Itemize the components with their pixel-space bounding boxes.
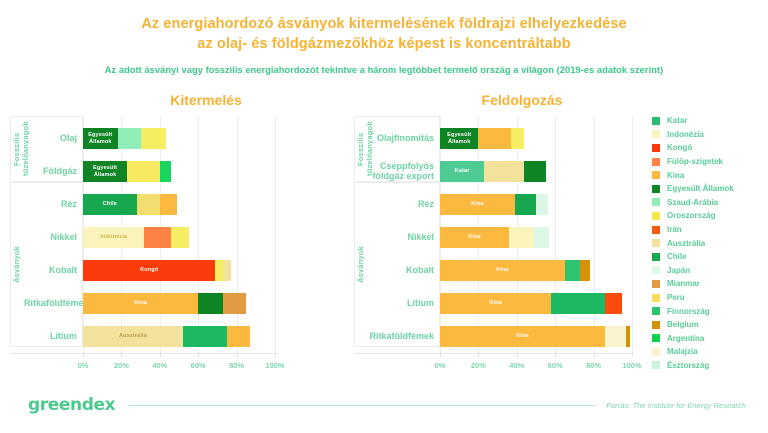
legend-item-label: Japán: [667, 266, 690, 275]
legend-item[interactable]: Japán: [652, 264, 768, 278]
legend-item-label: Kína: [667, 171, 684, 180]
bar-stack: Katar: [440, 161, 546, 182]
legend-item-label: Indonézia: [667, 130, 704, 139]
bar-segment[interactable]: EgyesültÁllamok: [440, 128, 478, 149]
legend-item-label: Malajzia: [667, 347, 698, 356]
bar-segment-label: Kína: [134, 300, 147, 306]
bar-stack: Kongó: [83, 260, 231, 281]
legend-swatch-icon: [652, 239, 660, 247]
x-axis-line: [10, 353, 275, 354]
chart-panel-feldolgozas: Feldolgozás Fosszilis tüzelőanyagokÁsván…: [352, 92, 652, 378]
gridline: [555, 116, 556, 353]
bar-segment[interactable]: [160, 161, 172, 182]
category-label: Cseppfolyós földgáz export: [368, 161, 434, 182]
category-label: Kobalt: [24, 265, 77, 276]
legend-item-label: Oroszország: [667, 211, 715, 220]
legend-item-label: Argentína: [667, 334, 704, 343]
legend-swatch-icon: [652, 294, 660, 302]
bar-segment-label: Kína: [516, 333, 529, 339]
legend-item-label: Mianmar: [667, 279, 700, 288]
legend-swatch-icon: [652, 198, 660, 206]
bar-segment[interactable]: Kína: [440, 260, 565, 281]
bar-segment[interactable]: [580, 260, 590, 281]
legend-swatch-icon: [652, 307, 660, 315]
legend: KatarIndonéziaKongóFülöp-szigetekKínaEgy…: [652, 114, 768, 372]
bar-segment-label: Katar: [455, 168, 470, 174]
axis-tick-label: 20%: [471, 361, 486, 370]
header: Az energiahordozó ásványok kitermeléséne…: [0, 0, 768, 75]
legend-item[interactable]: Belgium: [652, 318, 768, 332]
bar-segment-label: EgyesültÁllamok: [88, 132, 112, 145]
bar-segment[interactable]: [605, 293, 622, 314]
bar-segment[interactable]: [509, 227, 534, 248]
axis-tick-label: 0%: [78, 361, 89, 370]
legend-item-label: Chile: [667, 252, 687, 261]
category-label: Földgáz: [24, 166, 77, 177]
bar-segment[interactable]: EgyesültÁllamok: [83, 161, 127, 182]
legend-item[interactable]: Peru: [652, 291, 768, 305]
category-label: Lítium: [368, 298, 434, 309]
gridline: [275, 116, 276, 353]
legend-item[interactable]: Indonézia: [652, 128, 768, 142]
category-label: Lítium: [24, 331, 77, 342]
source-note: Forrás: The Institute for Energy Researc…: [606, 401, 746, 410]
legend-swatch-icon: [652, 158, 660, 166]
legend-swatch-icon: [652, 117, 660, 125]
bar-stack: EgyesültÁllamok: [440, 128, 524, 149]
bar-segment[interactable]: [223, 293, 246, 314]
bar-segment[interactable]: Kína: [440, 227, 509, 248]
legend-item[interactable]: Argentína: [652, 332, 768, 346]
chart-title-kitermeles: Kitermelés: [0, 92, 352, 108]
legend-item-label: Peru: [667, 293, 685, 302]
bar-segment-label: Indonézia: [100, 234, 127, 240]
bar-segment[interactable]: [227, 326, 250, 347]
bar-stack: Kína: [440, 326, 630, 347]
bar-stack: Kína: [440, 227, 549, 248]
bar-stack: Kína: [440, 293, 622, 314]
plot-area-kitermeles: Fosszilis tüzelőanyagokÁsványok0%20%40%6…: [0, 116, 352, 378]
legend-swatch-icon: [652, 361, 660, 369]
category-label: Olaj: [24, 133, 77, 144]
legend-item-label: Belgium: [667, 320, 699, 329]
bar-segment[interactable]: [536, 194, 548, 215]
bar-segment[interactable]: [183, 326, 227, 347]
bar-segment[interactable]: [137, 194, 160, 215]
bar-segment[interactable]: [565, 260, 580, 281]
bar-segment-label: EgyesültÁllamok: [447, 132, 471, 145]
axis-tick-label: 20%: [114, 361, 129, 370]
axis-tick-label: 40%: [509, 361, 524, 370]
bar-segment[interactable]: Kína: [440, 194, 515, 215]
legend-item-label: Észtország: [667, 361, 709, 370]
chart-panel-kitermeles: Kitermelés Fosszilis tüzelőanyagokÁsvány…: [0, 92, 352, 378]
bar-segment[interactable]: Kína: [440, 293, 551, 314]
category-label: Kobalt: [368, 265, 434, 276]
legend-swatch-icon: [652, 144, 660, 152]
legend-item-label: Egyesült Államok: [667, 184, 734, 193]
bar-segment[interactable]: [127, 161, 160, 182]
axis-tick-label: 60%: [548, 361, 563, 370]
bar-segment-label: Kína: [471, 201, 484, 207]
category-label: Ritkaföldfémek: [24, 298, 77, 309]
axis-tick-label: 80%: [586, 361, 601, 370]
bar-segment[interactable]: [484, 161, 524, 182]
legend-item[interactable]: Fülöp-szigetek: [652, 155, 768, 169]
bar-segment[interactable]: Kongó: [83, 260, 215, 281]
bar-segment[interactable]: [551, 293, 605, 314]
x-axis-line: [354, 353, 632, 354]
bar-segment-label: Kína: [489, 300, 502, 306]
bar-stack: Indonézia: [83, 227, 189, 248]
bar-segment[interactable]: [160, 194, 177, 215]
gridline: [237, 116, 238, 353]
legend-item[interactable]: Szaud-Arábia: [652, 196, 768, 210]
category-label: Olajfinomítás: [368, 133, 434, 144]
bar-segment[interactable]: [223, 260, 231, 281]
bar-segment[interactable]: [534, 227, 549, 248]
legend-swatch-icon: [652, 130, 660, 138]
bar-segment[interactable]: [171, 227, 188, 248]
bar-stack: Chile: [83, 194, 177, 215]
bar-stack: EgyesültÁllamok: [83, 161, 171, 182]
axis-tick: [632, 352, 633, 357]
category-label: Nikkel: [368, 232, 434, 243]
bar-segment[interactable]: Kína: [440, 326, 605, 347]
bar-segment[interactable]: EgyesültÁllamok: [83, 128, 118, 149]
footer-divider: [129, 405, 596, 406]
bar-segment[interactable]: [215, 260, 223, 281]
bar-stack: Ausztrália: [83, 326, 250, 347]
legend-swatch-icon: [652, 348, 660, 356]
brand-logo: greendex: [28, 395, 115, 415]
legend-swatch-icon: [652, 266, 660, 274]
bar-segment-label: Ausztrália: [119, 333, 147, 339]
bar-segment[interactable]: Indonézia: [83, 227, 144, 248]
bar-segment-label: Kongó: [140, 267, 158, 273]
bar-stack: Kína: [440, 260, 590, 281]
legend-item[interactable]: Kína: [652, 168, 768, 182]
bar-stack: Kína: [440, 194, 548, 215]
bar-segment[interactable]: Ausztrália: [83, 326, 183, 347]
axis-tick-label: 80%: [229, 361, 244, 370]
chart-title-feldolgozas: Feldolgozás: [352, 92, 652, 108]
gridline: [632, 116, 633, 353]
legend-item[interactable]: Egyesült Államok: [652, 182, 768, 196]
bar-segment[interactable]: [144, 227, 171, 248]
axis-tick-label: 100%: [265, 361, 284, 370]
legend-item[interactable]: Kongó: [652, 141, 768, 155]
legend-item[interactable]: Mianmar: [652, 277, 768, 291]
bar-stack: EgyesültÁllamok: [83, 128, 166, 149]
legend-swatch-icon: [652, 185, 660, 193]
legend-swatch-icon: [652, 253, 660, 261]
gridline: [198, 116, 199, 353]
legend-item[interactable]: Irán: [652, 223, 768, 237]
bar-segment[interactable]: [605, 326, 626, 347]
bar-segment[interactable]: [511, 128, 524, 149]
category-label: Nikkel: [24, 232, 77, 243]
bar-segment-label: EgyesültÁllamok: [93, 165, 117, 178]
legend-item[interactable]: Észtország: [652, 359, 768, 373]
legend-item-label: Kongó: [667, 143, 692, 152]
legend-item-label: Finnország: [667, 307, 710, 316]
axis-tick: [275, 352, 276, 357]
legend-swatch-icon: [652, 280, 660, 288]
plot-area-feldolgozas: Fosszilis tüzelőanyagokÁsványok0%20%40%6…: [352, 116, 652, 378]
legend-item-label: Szaud-Arábia: [667, 198, 718, 207]
legend-item[interactable]: Katar: [652, 114, 768, 128]
legend-swatch-icon: [652, 226, 660, 234]
axis-tick-label: 60%: [191, 361, 206, 370]
axis-tick-label: 0%: [435, 361, 446, 370]
legend-item[interactable]: Oroszország: [652, 209, 768, 223]
category-label: Réz: [368, 199, 434, 210]
page-subtitle: Az adott ásványi vagy fosszilis energiah…: [0, 65, 768, 75]
legend-swatch-icon: [652, 171, 660, 179]
legend-item-label: Katar: [667, 116, 687, 125]
bar-segment[interactable]: [198, 293, 223, 314]
bar-segment[interactable]: [478, 128, 511, 149]
bar-segment[interactable]: [118, 128, 141, 149]
legend-item-label: Ausztrália: [667, 239, 705, 248]
bar-segment[interactable]: Katar: [440, 161, 484, 182]
legend-item[interactable]: Finnország: [652, 304, 768, 318]
legend-swatch-icon: [652, 212, 660, 220]
bar-segment-label: Kína: [496, 267, 509, 273]
category-label: Réz: [24, 199, 77, 210]
bar-segment-label: Chile: [103, 201, 117, 207]
bar-segment[interactable]: Chile: [83, 194, 137, 215]
category-label: Ritkaföldfémek: [368, 331, 434, 342]
bar-segment[interactable]: Kína: [83, 293, 198, 314]
legend-item[interactable]: Chile: [652, 250, 768, 264]
axis-tick-label: 100%: [622, 361, 641, 370]
footer: greendex Forrás: The Institute for Energ…: [0, 395, 768, 415]
bar-stack: Kína: [83, 293, 246, 314]
legend-swatch-icon: [652, 321, 660, 329]
bar-segment[interactable]: [626, 326, 630, 347]
bar-segment[interactable]: [524, 161, 545, 182]
bar-segment-label: Kína: [468, 234, 481, 240]
legend-item-label: Irán: [667, 225, 682, 234]
page-title-line-2: az olaj- és földgázmezőkhöz képest is ko…: [0, 34, 768, 54]
gridline: [594, 116, 595, 353]
legend-item[interactable]: Malajzia: [652, 345, 768, 359]
axis-tick-label: 40%: [152, 361, 167, 370]
bar-segment[interactable]: [515, 194, 536, 215]
legend-item-label: Fülöp-szigetek: [667, 157, 723, 166]
page-title-line-1: Az energiahordozó ásványok kitermeléséne…: [0, 14, 768, 34]
legend-swatch-icon: [652, 334, 660, 342]
legend-item[interactable]: Ausztrália: [652, 236, 768, 250]
bar-segment[interactable]: [141, 128, 166, 149]
